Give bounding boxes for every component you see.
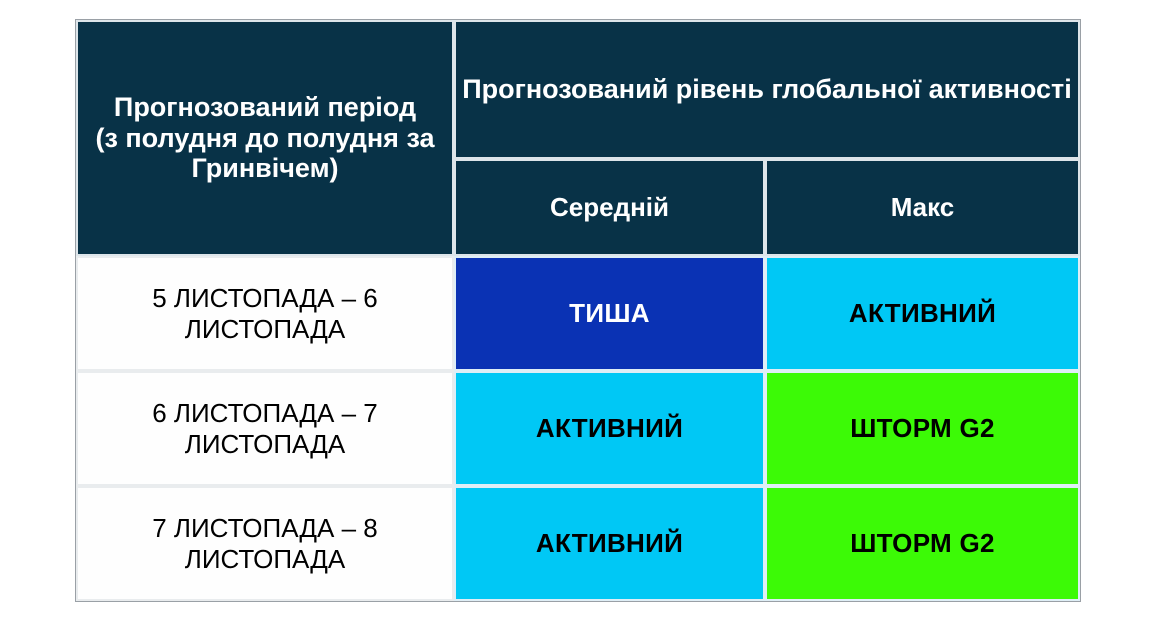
header-global-activity: Прогнозований рівень глобальної активнос… xyxy=(454,20,1080,159)
cell-max-level: ШТОРМ G2 xyxy=(765,486,1080,601)
table-header: Прогнозований період (з полудня до полуд… xyxy=(76,20,1080,256)
cell-period: 6 ЛИСТОПАДА – 7 ЛИСТОПАДА xyxy=(76,371,454,486)
header-period-line-2: (з полудня до полудня за Гринвічем) xyxy=(78,123,452,184)
header-period-line-1: Прогнозований період xyxy=(78,92,452,123)
cell-period: 5 ЛИСТОПАДА – 6 ЛИСТОПАДА xyxy=(76,256,454,371)
cell-mean-level: АКТИВНИЙ xyxy=(454,371,765,486)
cell-max-level: ШТОРМ G2 xyxy=(765,371,1080,486)
header-row-primary: Прогнозований період (з полудня до полуд… xyxy=(76,20,1080,159)
header-period-column: Прогнозований період (з полудня до полуд… xyxy=(76,20,454,256)
table-row: 6 ЛИСТОПАДА – 7 ЛИСТОПАДА АКТИВНИЙ ШТОРМ… xyxy=(76,371,1080,486)
forecast-table-container: Прогнозований період (з полудня до полуд… xyxy=(75,19,1081,602)
table-row: 5 ЛИСТОПАДА – 6 ЛИСТОПАДА ТИША АКТИВНИЙ xyxy=(76,256,1080,371)
table-row: 7 ЛИСТОПАДА – 8 ЛИСТОПАДА АКТИВНИЙ ШТОРМ… xyxy=(76,486,1080,601)
cell-mean-level: ТИША xyxy=(454,256,765,371)
header-max-column: Макс xyxy=(765,159,1080,256)
table-body: 5 ЛИСТОПАДА – 6 ЛИСТОПАДА ТИША АКТИВНИЙ … xyxy=(76,256,1080,601)
geomagnetic-forecast-table: Прогнозований період (з полудня до полуд… xyxy=(76,20,1080,601)
header-mean-column: Середній xyxy=(454,159,765,256)
cell-max-level: АКТИВНИЙ xyxy=(765,256,1080,371)
cell-period: 7 ЛИСТОПАДА – 8 ЛИСТОПАДА xyxy=(76,486,454,601)
cell-mean-level: АКТИВНИЙ xyxy=(454,486,765,601)
